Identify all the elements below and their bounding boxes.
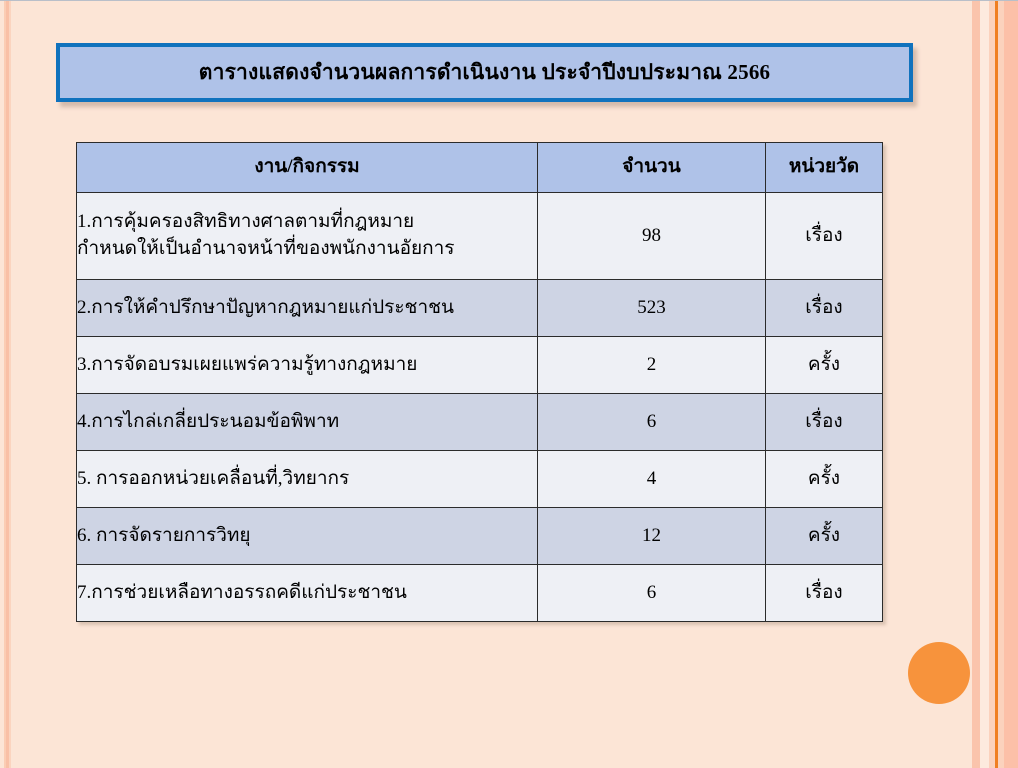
table-row: 1.การคุ้มครองสิทธิทางศาลตามที่กฎหมายกำหน… <box>77 193 883 280</box>
cell-activity: 3.การจัดอบรมเผยแพร่ความรู้ทางกฎหมาย <box>77 337 538 394</box>
results-table: งาน/กิจกรรม จำนวน หน่วยวัด 1.การคุ้มครอง… <box>76 142 883 622</box>
cell-activity: 5. การออกหน่วยเคลื่อนที่,วิทยากร <box>77 451 538 508</box>
table-row: 5. การออกหน่วยเคลื่อนที่,วิทยากร4ครั้ง <box>77 451 883 508</box>
cell-activity: 7.การช่วยเหลือทางอรรถคดีแก่ประชาชน <box>77 565 538 622</box>
cell-unit: เรื่อง <box>766 565 883 622</box>
cell-unit: เรื่อง <box>766 394 883 451</box>
activity-line: 2.การให้คำปรึกษาปัญหากฎหมายแก่ประชาชน <box>77 295 537 322</box>
cell-activity: 4.การไกล่เกลี่ยประนอมข้อพิพาท <box>77 394 538 451</box>
table-header: งาน/กิจกรรม จำนวน หน่วยวัด <box>77 143 883 193</box>
orange-circle-decoration <box>908 642 970 704</box>
activity-line: 3.การจัดอบรมเผยแพร่ความรู้ทางกฎหมาย <box>77 352 537 379</box>
cell-activity: 6. การจัดรายการวิทยุ <box>77 508 538 565</box>
cell-activity: 1.การคุ้มครองสิทธิทางศาลตามที่กฎหมายกำหน… <box>77 193 538 280</box>
cell-amount: 12 <box>538 508 766 565</box>
cell-unit: ครั้ง <box>766 508 883 565</box>
activity-line: 5. การออกหน่วยเคลื่อนที่,วิทยากร <box>77 466 537 493</box>
table-body: 1.การคุ้มครองสิทธิทางศาลตามที่กฎหมายกำหน… <box>77 193 883 622</box>
cell-amount: 98 <box>538 193 766 280</box>
cell-unit: เรื่อง <box>766 193 883 280</box>
table-row: 3.การจัดอบรมเผยแพร่ความรู้ทางกฎหมาย2ครั้… <box>77 337 883 394</box>
title-banner: ตารางแสดงจำนวนผลการดำเนินงาน ประจำปีงบปร… <box>56 43 913 102</box>
decorative-stripe <box>972 1 980 768</box>
decorative-stripe <box>1004 1 1018 768</box>
cell-amount: 2 <box>538 337 766 394</box>
cell-activity: 2.การให้คำปรึกษาปัญหากฎหมายแก่ประชาชน <box>77 280 538 337</box>
activity-line: 6. การจัดรายการวิทยุ <box>77 523 537 550</box>
decorative-stripe <box>980 1 989 768</box>
column-header-amount: จำนวน <box>538 143 766 193</box>
table-row: 2.การให้คำปรึกษาปัญหากฎหมายแก่ประชาชน523… <box>77 280 883 337</box>
decorative-stripe <box>9 1 11 768</box>
page-title: ตารางแสดงจำนวนผลการดำเนินงาน ประจำปีงบปร… <box>199 61 770 84</box>
column-header-unit: หน่วยวัด <box>766 143 883 193</box>
cell-amount: 4 <box>538 451 766 508</box>
cell-amount: 523 <box>538 280 766 337</box>
table-row: 7.การช่วยเหลือทางอรรถคดีแก่ประชาชน6เรื่อ… <box>77 565 883 622</box>
cell-unit: ครั้ง <box>766 337 883 394</box>
activity-line: 1.การคุ้มครองสิทธิทางศาลตามที่กฎหมาย <box>77 209 537 236</box>
table-row: 6. การจัดรายการวิทยุ12ครั้ง <box>77 508 883 565</box>
activity-line: กำหนดให้เป็นอำนาจหน้าที่ของพนักงานอัยการ <box>77 236 537 263</box>
slide-canvas: ตารางแสดงจำนวนผลการดำเนินงาน ประจำปีงบปร… <box>0 0 1018 768</box>
activity-line: 7.การช่วยเหลือทางอรรถคดีแก่ประชาชน <box>77 580 537 607</box>
cell-unit: เรื่อง <box>766 280 883 337</box>
table-header-row: งาน/กิจกรรม จำนวน หน่วยวัด <box>77 143 883 193</box>
cell-unit: ครั้ง <box>766 451 883 508</box>
cell-amount: 6 <box>538 394 766 451</box>
column-header-activity: งาน/กิจกรรม <box>77 143 538 193</box>
cell-amount: 6 <box>538 565 766 622</box>
activity-line: 4.การไกล่เกลี่ยประนอมข้อพิพาท <box>77 409 537 436</box>
table-row: 4.การไกล่เกลี่ยประนอมข้อพิพาท6เรื่อง <box>77 394 883 451</box>
